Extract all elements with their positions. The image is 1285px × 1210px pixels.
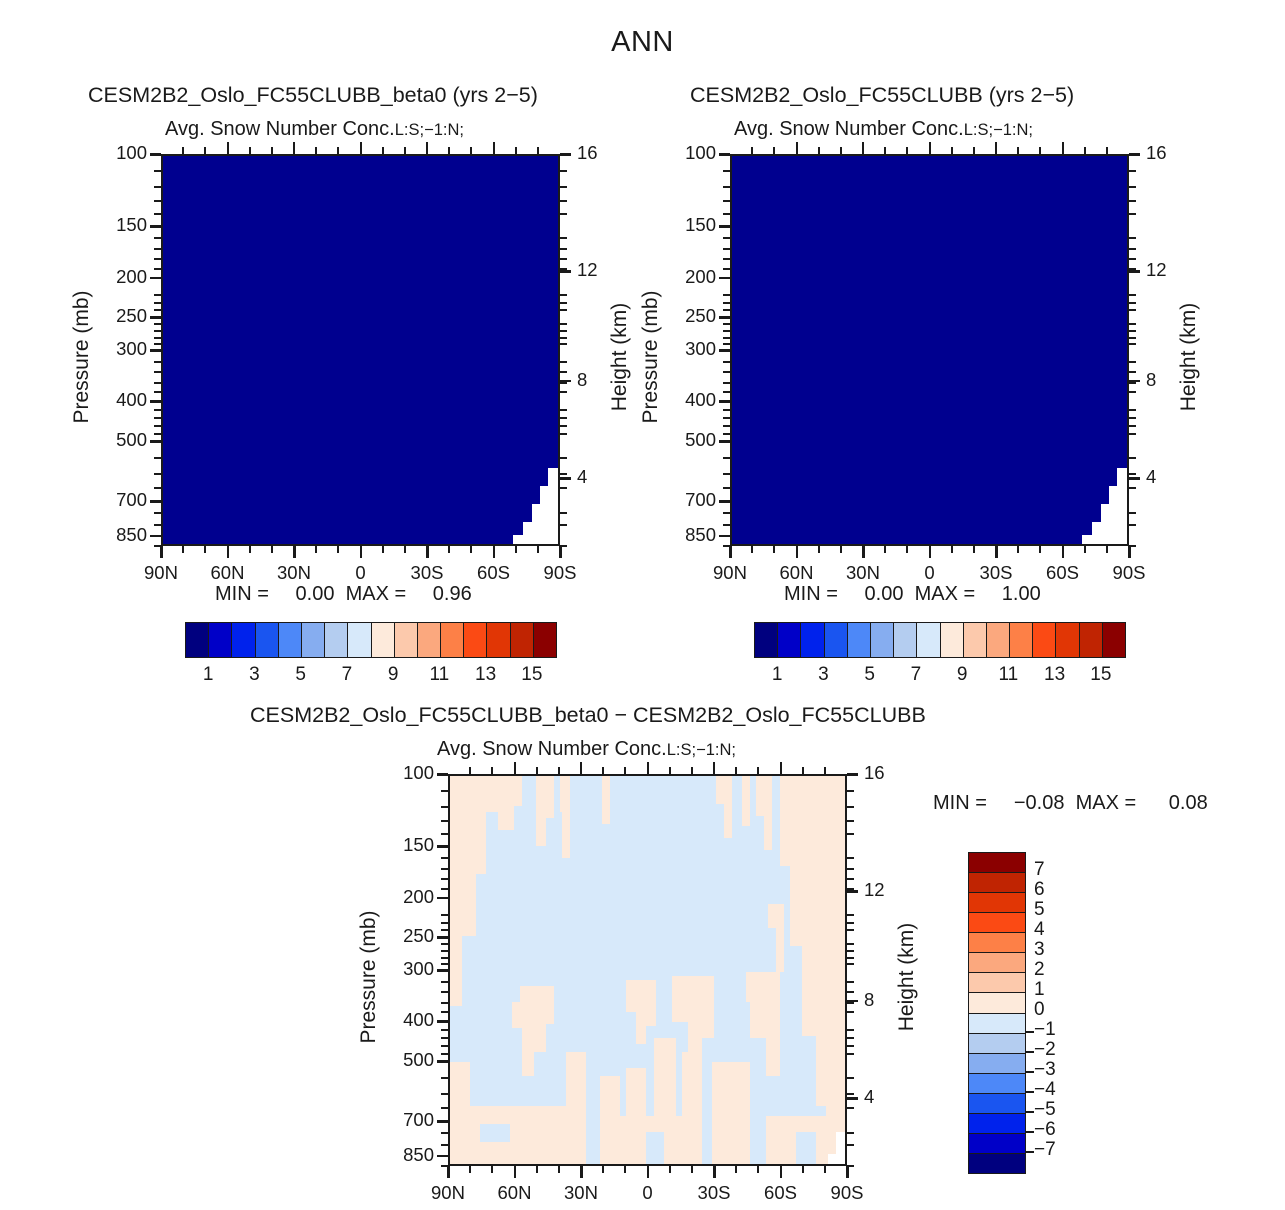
colorbar-difference-cell-3[interactable] — [969, 913, 1025, 933]
panel-difference-height-minor-tick — [847, 950, 854, 952]
panel-test-height-minor-tick — [560, 433, 567, 435]
panel-difference-pressure-label: 700 — [376, 1109, 434, 1131]
panel-control-variable: Avg. Snow Number Conc. — [734, 118, 964, 140]
panel-test-pressure-minor-tick — [154, 487, 161, 489]
panel-control-lat-tick — [1062, 546, 1065, 558]
panel-test-lat-minor-tick — [470, 546, 472, 553]
panel-control-pressure-minor-tick — [723, 487, 730, 489]
panel-control-height-minor-tick — [1129, 268, 1136, 270]
panel-test-lat-minor-tick — [315, 546, 317, 553]
panel-test-height-minor-tick — [560, 330, 567, 332]
panel-control-pressure-minor-tick — [723, 545, 730, 547]
colorbar-main-right-label: 15 — [1071, 664, 1131, 686]
colorbar-difference-cell-15[interactable] — [969, 1154, 1025, 1173]
panel-test-pressure-minor-tick — [154, 200, 161, 202]
panel-control-pressure-tick — [719, 400, 730, 403]
panel-test-height-minor-tick — [560, 200, 567, 202]
panel-difference-pressure-minor-tick — [441, 1132, 448, 1134]
panel-difference-pressure-minor-tick — [441, 922, 448, 924]
panel-control-y2axis-label: Height (km) — [1177, 262, 1201, 452]
panel-difference-pressure-label: 250 — [376, 925, 434, 947]
panel-difference-lat-minor-tick — [802, 1166, 804, 1173]
panel-difference-height-tick — [847, 890, 858, 893]
colorbar-difference-cell-11[interactable] — [969, 1074, 1025, 1094]
colorbar-main-right-cell-12[interactable] — [1033, 623, 1056, 657]
panel-control-pressure-minor-tick — [723, 391, 730, 393]
panel-test-height-minor-tick — [560, 371, 567, 373]
panel-test-height-minor-tick — [560, 457, 567, 459]
panel-control-pressure-minor-tick — [723, 200, 730, 202]
colorbar-main-left-cell-7[interactable] — [348, 623, 371, 657]
panel-difference-pressure-minor-tick — [441, 878, 448, 880]
colorbar-difference-tick — [1025, 1111, 1034, 1113]
panel-control-pressure-tick — [719, 316, 730, 319]
panel-test-pressure-minor-tick — [154, 425, 161, 427]
panel-control-lat-tick — [1128, 546, 1131, 558]
panel-test-height-minor-tick — [560, 294, 567, 296]
panel-difference-pressure-minor-tick — [441, 1011, 448, 1013]
panel-difference-lat-minor-tick — [691, 1166, 693, 1173]
panel-difference-lat-minor-tick — [735, 1166, 737, 1173]
colorbar-main-left-cell-8[interactable] — [372, 623, 395, 657]
colorbar-difference-cell-0[interactable] — [969, 853, 1025, 873]
panel-test-height-minor-tick — [560, 248, 567, 250]
panel-control-lat-label: 90S — [1089, 562, 1169, 584]
panel-test-annotation: L:S;−1:N; — [395, 121, 464, 139]
panel-control-pressure-minor-tick — [723, 170, 730, 172]
panel-test-height-minor-tick — [560, 186, 567, 188]
panel-test-height-minor-tick — [560, 487, 567, 489]
panel-test-height-minor-tick — [560, 382, 567, 384]
panel-difference-pressure-minor-tick — [441, 1144, 448, 1146]
panel-test-lat-top-tick — [227, 142, 229, 154]
panel-control-minmax: MIN = 0.00 MAX = 1.00 — [784, 583, 1041, 606]
colorbar-difference-label: −7 — [1034, 1139, 1056, 1161]
panel-test-lat-top-tick — [182, 147, 184, 154]
colorbar-main-right-cell-11[interactable] — [1010, 623, 1033, 657]
panel-difference-height-minor-tick — [847, 981, 854, 983]
panel-control-height-label: 16 — [1146, 142, 1167, 164]
panel-test-lat-minor-tick — [182, 546, 184, 553]
colorbar-main-left[interactable] — [185, 622, 557, 658]
max-label: MAX = — [1076, 792, 1137, 814]
panel-control-lat-top-tick — [796, 142, 798, 154]
panel-control-height-label: 8 — [1146, 369, 1156, 391]
panel-test-pressure-label: 200 — [89, 266, 147, 288]
panel-difference-lat-tick — [713, 1166, 716, 1178]
panel-control-height-minor-tick — [1129, 545, 1136, 547]
colorbar-main-left-cell-1[interactable] — [209, 623, 232, 657]
panel-control-pressure-tick — [719, 500, 730, 503]
colorbar-difference-label: 0 — [1034, 999, 1045, 1021]
colorbar-difference-cell-14[interactable] — [969, 1134, 1025, 1154]
panel-test-height-minor-tick — [560, 391, 567, 393]
difference-contour-field — [450, 776, 847, 1166]
panel-test-lat-top-tick — [249, 147, 251, 154]
panel-difference-lat-minor-tick — [536, 1166, 538, 1173]
panel-difference-height-minor-tick — [847, 888, 854, 890]
panel-test-lat-tick — [493, 546, 496, 558]
panel-difference-lat-top-tick — [602, 767, 604, 774]
panel-control-height-minor-tick — [1129, 433, 1136, 435]
panel-difference-pressure-minor-tick — [441, 1053, 448, 1055]
panel-test-pressure-minor-tick — [154, 409, 161, 411]
panel-test-lat-minor-tick — [448, 546, 450, 553]
panel-test-pressure-tick — [150, 225, 161, 228]
panel-difference-pressure-label: 200 — [376, 886, 434, 908]
colorbar-main-left-cell-2[interactable] — [232, 623, 255, 657]
panel-difference-pressure-tick — [437, 773, 448, 776]
panel-difference-pressure-minor-tick — [441, 1107, 448, 1109]
panel-control-lat-top-tick — [1017, 147, 1019, 154]
panel-control-height-minor-tick — [1129, 457, 1136, 459]
panel-difference-height-tick — [847, 773, 858, 776]
panel-difference-pressure-label: 150 — [376, 834, 434, 856]
colorbar-main-left-cell-0[interactable] — [186, 623, 209, 657]
panel-test-height-minor-tick — [560, 524, 567, 526]
colorbar-main-right-cell-6[interactable] — [894, 623, 917, 657]
panel-control-pressure-tick — [719, 225, 730, 228]
max-label: MAX = — [346, 583, 407, 605]
colorbar-main-left-cell-9[interactable] — [395, 623, 418, 657]
panel-difference-pressure-tick — [437, 969, 448, 972]
colorbar-main-left-cell-3[interactable] — [256, 623, 279, 657]
colorbar-difference-label: −5 — [1034, 1099, 1056, 1121]
colorbar-main-right[interactable] — [754, 622, 1126, 658]
panel-difference-height-minor-tick — [847, 1132, 854, 1134]
panel-difference-lat-top-tick — [491, 767, 493, 774]
panel-control-pressure-tick — [719, 277, 730, 280]
panel-difference-height-minor-tick — [847, 1165, 854, 1167]
missing-data-wedge — [523, 522, 532, 544]
panel-difference-plot-area — [448, 774, 847, 1166]
missing-data-wedge — [540, 486, 548, 544]
colorbar-difference-cell-4[interactable] — [969, 933, 1025, 953]
panel-control-lat-top-tick — [1062, 142, 1064, 154]
colorbar-difference-label: 6 — [1034, 879, 1045, 901]
colorbar-difference-tick — [1025, 1031, 1034, 1033]
missing-data-wedge — [1082, 535, 1092, 544]
colorbar-difference-cell-9[interactable] — [969, 1034, 1025, 1054]
panel-control-height-minor-tick — [1129, 258, 1136, 260]
panel-difference-pressure-label: 850 — [376, 1144, 434, 1166]
panel-test-lat-tick — [227, 546, 230, 558]
colorbar-difference-label: 1 — [1034, 979, 1045, 1001]
colorbar-difference[interactable] — [968, 852, 1026, 1174]
panel-difference-height-minor-tick — [847, 1107, 854, 1109]
panel-control-pressure-tick — [719, 153, 730, 156]
colorbar-difference-cell-13[interactable] — [969, 1114, 1025, 1134]
panel-test-height-minor-tick — [560, 425, 567, 427]
colorbar-difference-cell-10[interactable] — [969, 1054, 1025, 1074]
panel-control-lat-minor-tick — [751, 546, 753, 553]
colorbar-difference-label: −4 — [1034, 1079, 1056, 1101]
colorbar-difference-cell-6[interactable] — [969, 973, 1025, 993]
panel-difference-lat-top-tick — [647, 762, 649, 774]
colorbar-main-left-cell-6[interactable] — [325, 623, 348, 657]
missing-data-wedge — [548, 468, 558, 544]
panel-test-pressure-minor-tick — [154, 417, 161, 419]
panel-control-height-minor-tick — [1129, 382, 1136, 384]
panel-test-height-minor-tick — [560, 361, 567, 363]
colorbar-main-right-cell-4[interactable] — [848, 623, 871, 657]
panel-test-pressure-tick — [150, 153, 161, 156]
panel-test-height-minor-tick — [560, 309, 567, 311]
panel-control-lat-top-tick — [884, 147, 886, 154]
colorbar-difference-tick — [1025, 1071, 1034, 1073]
panel-difference-lat-minor-tick — [469, 1166, 471, 1173]
min-label: MIN = — [215, 583, 269, 605]
panel-difference-subtitle: Avg. Snow Number Conc.L:S;−1:N; — [437, 738, 736, 761]
panel-control-pressure-minor-tick — [723, 294, 730, 296]
panel-test-lat-tick — [360, 546, 363, 558]
panel-control-lat-top-tick — [818, 147, 820, 154]
panel-control-pressure-minor-tick — [723, 309, 730, 311]
panel-difference-height-minor-tick — [847, 820, 854, 822]
colorbar-main-right-cell-1[interactable] — [778, 623, 801, 657]
colorbar-difference-cell-12[interactable] — [969, 1094, 1025, 1114]
panel-control-lat-top-tick — [1039, 147, 1041, 154]
panel-test-height-minor-tick — [560, 323, 567, 325]
panel-control-pressure-label: 200 — [658, 266, 716, 288]
panel-control-plot-area — [730, 154, 1129, 546]
panel-difference-height-minor-tick — [847, 1045, 854, 1047]
min-value: 0.00 — [843, 583, 903, 606]
panel-test-pressure-minor-tick — [154, 457, 161, 459]
colorbar-difference-cell-8[interactable] — [969, 1014, 1025, 1034]
colorbar-difference-tick — [1025, 1151, 1034, 1153]
panel-test-lat-top-tick — [537, 147, 539, 154]
panel-difference-pressure-minor-tick — [441, 1045, 448, 1047]
panel-difference-pressure-minor-tick — [441, 914, 448, 916]
colorbar-main-left-cell-15[interactable] — [534, 623, 556, 657]
panel-difference-pressure-tick — [437, 1020, 448, 1023]
panel-test-pressure-tick — [150, 349, 161, 352]
colorbar-main-right-cell-8[interactable] — [941, 623, 964, 657]
panel-difference-annotation: L:S;−1:N; — [667, 741, 736, 759]
panel-test-pressure-minor-tick — [154, 237, 161, 239]
colorbar-difference-label: 7 — [1034, 859, 1045, 881]
panel-control-lat-top-tick — [1084, 147, 1086, 154]
colorbar-main-right-cell-9[interactable] — [964, 623, 987, 657]
panel-control-height-minor-tick — [1129, 409, 1136, 411]
panel-difference-pressure-minor-tick — [441, 963, 448, 965]
colorbar-main-left-cell-13[interactable] — [487, 623, 510, 657]
panel-difference-pressure-minor-tick — [441, 868, 448, 870]
panel-difference-pressure-label: 300 — [376, 958, 434, 980]
main-title: ANN — [0, 26, 1285, 59]
panel-control-height-minor-tick — [1129, 361, 1136, 363]
panel-control-height-minor-tick — [1129, 200, 1136, 202]
panel-difference-pressure-minor-tick — [441, 888, 448, 890]
colorbar-main-left-cell-4[interactable] — [279, 623, 302, 657]
panel-difference-height-minor-tick — [847, 1011, 854, 1013]
panel-control-pressure-minor-tick — [723, 330, 730, 332]
panel-test-lat-minor-tick — [337, 546, 339, 553]
panel-control-height-minor-tick — [1129, 330, 1136, 332]
colorbar-main-left-cell-14[interactable] — [511, 623, 534, 657]
panel-control-lat-minor-tick — [1039, 546, 1041, 553]
panel-control-pressure-minor-tick — [723, 371, 730, 373]
colorbar-main-right-cell-15[interactable] — [1103, 623, 1125, 657]
panel-difference-pressure-minor-tick — [441, 1029, 448, 1031]
panel-test-lat-tick — [293, 546, 296, 558]
panel-difference-lat-minor-tick — [602, 1166, 604, 1173]
panel-difference-pressure-minor-tick — [441, 790, 448, 792]
panel-test-plot-area — [161, 154, 560, 546]
panel-difference-minmax: MIN = −0.08 MAX = 0.08 — [933, 792, 1208, 815]
panel-control-height-minor-tick — [1129, 417, 1136, 419]
panel-test-pressure-label: 300 — [89, 338, 147, 360]
panel-test-height-label: 16 — [577, 142, 598, 164]
panel-difference-lat-top-tick — [735, 767, 737, 774]
missing-data-wedge — [1109, 486, 1117, 544]
panel-test-pressure-minor-tick — [154, 268, 161, 270]
panel-test-y2axis-label: Height (km) — [608, 262, 632, 452]
panel-control-pressure-minor-tick — [723, 382, 730, 384]
panel-difference-lat-tick — [514, 1166, 517, 1178]
panel-test-height-minor-tick — [560, 258, 567, 260]
panel-difference-height-label: 4 — [864, 1086, 874, 1108]
panel-difference-lat-top-tick — [780, 762, 782, 774]
colorbar-difference-cell-2[interactable] — [969, 893, 1025, 913]
max-label: MAX = — [915, 583, 976, 605]
panel-difference-pressure-minor-tick — [441, 806, 448, 808]
panel-test-lat-top-tick — [360, 142, 362, 154]
colorbar-main-left-cell-5[interactable] — [302, 623, 325, 657]
panel-difference-lat-tick — [780, 1166, 783, 1178]
panel-test-pressure-tick — [150, 400, 161, 403]
panel-difference-lat-minor-tick — [491, 1166, 493, 1173]
panel-test-lat-tick — [160, 546, 163, 558]
panel-control-lat-minor-tick — [973, 546, 975, 553]
panel-control-pressure-label: 500 — [658, 429, 716, 451]
panel-control-lat-tick — [862, 546, 865, 558]
panel-test-lat-top-tick — [448, 147, 450, 154]
panel-test-pressure-minor-tick — [154, 186, 161, 188]
panel-control-annotation: L:S;−1:N; — [964, 121, 1033, 139]
panel-test-variable: Avg. Snow Number Conc. — [165, 118, 395, 140]
panel-control-lat-top-tick — [862, 142, 864, 154]
colorbar-main-left-cell-10[interactable] — [418, 623, 441, 657]
panel-control-height-minor-tick — [1129, 524, 1136, 526]
panel-test-pressure-label: 700 — [89, 489, 147, 511]
colorbar-main-right-cell-3[interactable] — [825, 623, 848, 657]
panel-difference-lat-top-tick — [802, 767, 804, 774]
panel-test-pressure-minor-tick — [154, 524, 161, 526]
colorbar-main-right-cell-5[interactable] — [871, 623, 894, 657]
panel-control-pressure-minor-tick — [723, 433, 730, 435]
panel-difference-pressure-minor-tick — [441, 929, 448, 931]
panel-control-height-minor-tick — [1129, 512, 1136, 514]
colorbar-main-right-cell-13[interactable] — [1056, 623, 1079, 657]
panel-control-pressure-label: 300 — [658, 338, 716, 360]
panel-difference-height-minor-tick — [847, 833, 854, 835]
panel-control-subtitle: Avg. Snow Number Conc.L:S;−1:N; — [734, 118, 1033, 141]
panel-control-height-minor-tick — [1129, 294, 1136, 296]
max-value: 1.00 — [981, 583, 1041, 606]
panel-difference-lat-top-tick — [514, 762, 516, 774]
panel-difference-pressure-minor-tick — [441, 833, 448, 835]
panel-control-pressure-minor-tick — [723, 457, 730, 459]
panel-test-subtitle: Avg. Snow Number Conc.L:S;−1:N; — [165, 118, 464, 141]
colorbar-main-right-cell-7[interactable] — [917, 623, 940, 657]
panel-test-lat-tick — [426, 546, 429, 558]
panel-test-height-label: 8 — [577, 369, 587, 391]
colorbar-difference-tick — [1025, 1131, 1034, 1133]
panel-difference-pressure-minor-tick — [441, 950, 448, 952]
panel-difference-pressure-label: 500 — [376, 1049, 434, 1071]
panel-test-pressure-tick — [150, 440, 161, 443]
colorbar-difference-label: −2 — [1034, 1039, 1056, 1061]
panel-test-pressure-label: 500 — [89, 429, 147, 451]
colorbar-difference-cell-5[interactable] — [969, 953, 1025, 973]
panel-difference-pressure-minor-tick — [441, 820, 448, 822]
colorbar-main-right-cell-10[interactable] — [987, 623, 1010, 657]
panel-difference-height-minor-tick — [847, 878, 854, 880]
colorbar-main-right-cell-0[interactable] — [755, 623, 778, 657]
panel-difference-height-minor-tick — [847, 1077, 854, 1079]
panel-test-pressure-minor-tick — [154, 371, 161, 373]
panel-control-pressure-label: 150 — [658, 214, 716, 236]
panel-difference-pressure-label: 100 — [376, 762, 434, 784]
panel-difference-lat-minor-tick — [824, 1166, 826, 1173]
panel-test-pressure-minor-tick — [154, 391, 161, 393]
panel-control-height-minor-tick — [1129, 323, 1136, 325]
panel-control-lat-tick — [995, 546, 998, 558]
min-label: MIN = — [784, 583, 838, 605]
panel-difference-pressure-minor-tick — [441, 991, 448, 993]
panel-difference-lat-minor-tick — [669, 1166, 671, 1173]
panel-control-lat-minor-tick — [884, 546, 886, 553]
colorbar-difference-label: −3 — [1034, 1059, 1056, 1081]
panel-test-lat-minor-tick — [404, 546, 406, 553]
panel-test-height-minor-tick — [560, 237, 567, 239]
panel-control-lat-minor-tick — [773, 546, 775, 553]
panel-difference-lat-tick — [447, 1166, 450, 1178]
panel-difference-pressure-minor-tick — [441, 1165, 448, 1167]
colorbar-difference-cell-1[interactable] — [969, 873, 1025, 893]
panel-test-lat-top-tick — [382, 147, 384, 154]
panel-control-pressure-minor-tick — [723, 248, 730, 250]
panel-control-lat-minor-tick — [818, 546, 820, 553]
panel-test-lat-top-tick — [493, 142, 495, 154]
panel-test-lat-top-tick — [337, 147, 339, 154]
panel-control-lat-top-tick — [840, 147, 842, 154]
panel-difference-pressure-tick — [437, 1060, 448, 1063]
panel-test-pressure-minor-tick — [154, 213, 161, 215]
min-value: −0.08 — [992, 792, 1064, 815]
panel-control-pressure-minor-tick — [723, 512, 730, 514]
panel-difference-pressure-tick — [437, 845, 448, 848]
panel-test-height-minor-tick — [560, 170, 567, 172]
colorbar-difference-label: 2 — [1034, 959, 1045, 981]
panel-difference-lat-top-tick — [580, 762, 582, 774]
panel-control-lat-minor-tick — [1084, 546, 1086, 553]
colorbar-main-left-cell-12[interactable] — [464, 623, 487, 657]
colorbar-main-right-cell-2[interactable] — [801, 623, 824, 657]
colorbar-difference-cell-7[interactable] — [969, 993, 1025, 1013]
panel-test-height-minor-tick — [560, 302, 567, 304]
panel-control-pressure-tick — [719, 440, 730, 443]
panel-test-pressure-minor-tick — [154, 361, 161, 363]
panel-control-lat-minor-tick — [1106, 546, 1108, 553]
panel-difference-lat-top-tick — [469, 767, 471, 774]
colorbar-main-right-cell-14[interactable] — [1080, 623, 1103, 657]
panel-control-lat-top-tick — [973, 147, 975, 154]
panel-test-height-minor-tick — [560, 268, 567, 270]
colorbar-main-left-cell-11[interactable] — [441, 623, 464, 657]
